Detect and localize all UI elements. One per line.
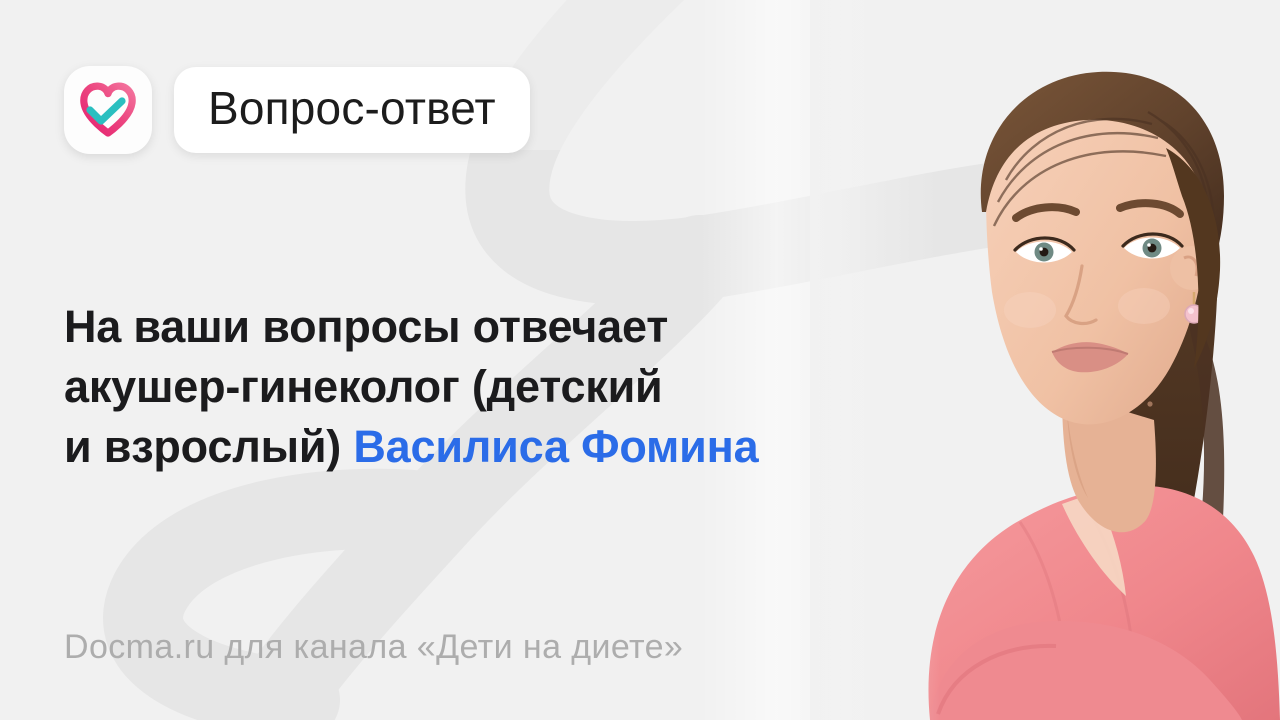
title-pill[interactable]: Вопрос-ответ bbox=[174, 67, 530, 153]
headline-line-1: На ваши вопросы отвечает bbox=[64, 297, 894, 357]
footer-credit: Docma.ru для канала «Дети на диете» bbox=[64, 628, 683, 667]
page-title: На ваши вопросы отвечает акушер-гинеколо… bbox=[64, 297, 894, 477]
eye-left bbox=[1015, 238, 1074, 263]
headline-line-3-prefix: и взрослый) bbox=[64, 421, 353, 472]
logo-tile[interactable] bbox=[64, 66, 152, 154]
heart-check-logo-icon bbox=[78, 81, 138, 139]
title-pill-label: Вопрос-ответ bbox=[208, 85, 496, 131]
header: Вопрос-ответ bbox=[64, 66, 530, 154]
earring bbox=[1185, 292, 1203, 323]
headline-line-2: акушер-гинеколог (детский bbox=[64, 357, 894, 417]
headline-line-3: и взрослый) Василиса Фомина bbox=[64, 417, 894, 477]
doctor-name: Василиса Фомина bbox=[353, 421, 758, 472]
promo-banner: Вопрос-ответ На ваши вопросы отвечает ак… bbox=[0, 0, 1280, 720]
eye-right bbox=[1123, 234, 1182, 259]
